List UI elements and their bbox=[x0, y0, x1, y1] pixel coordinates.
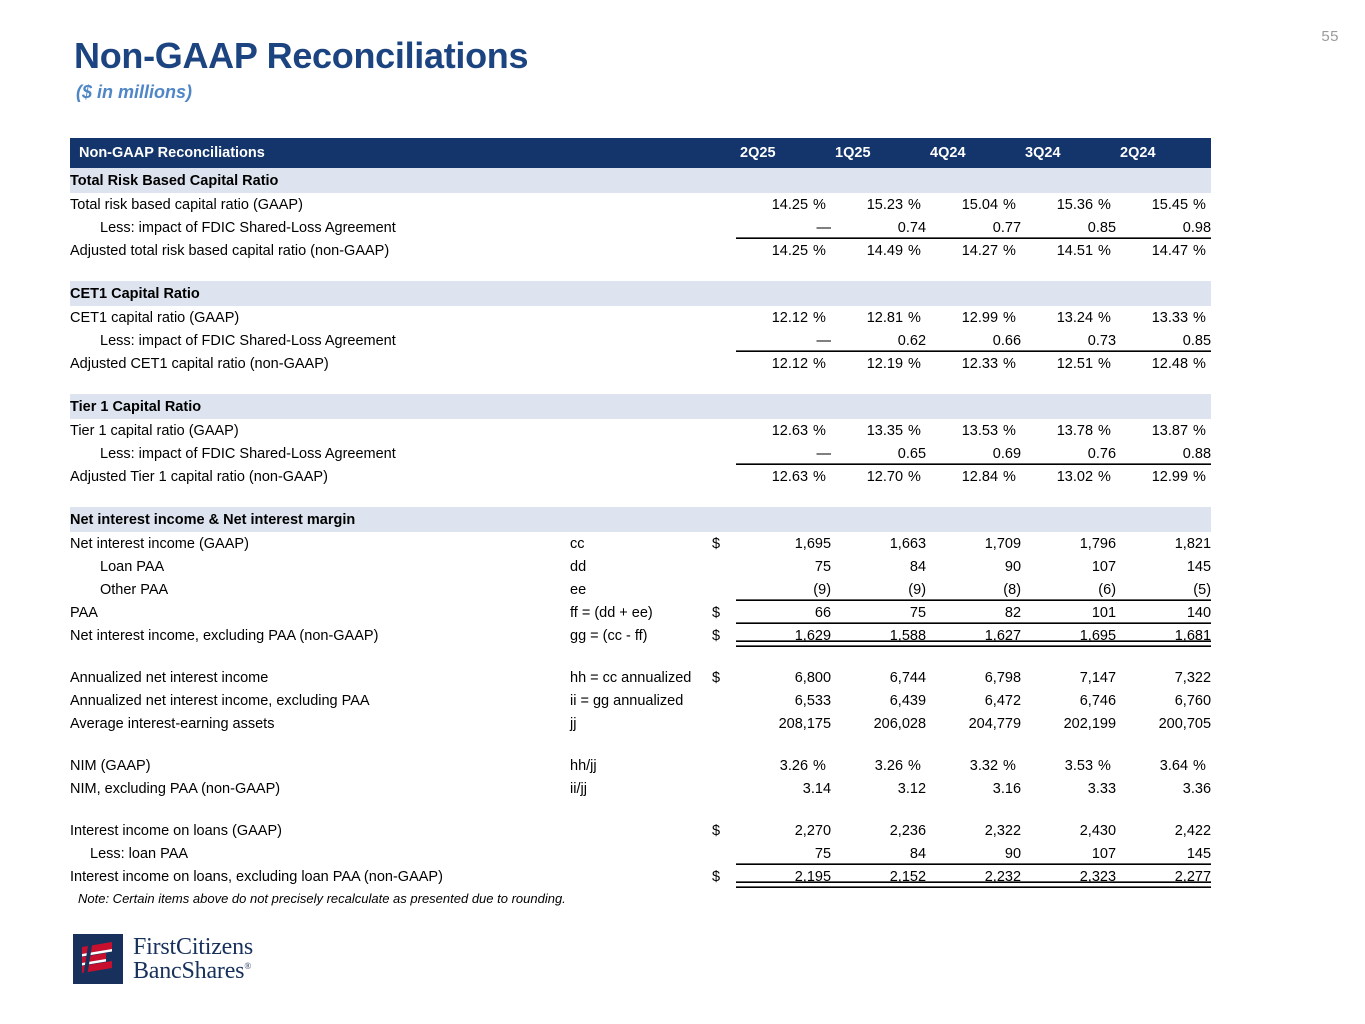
table-row: Less: loan PAA758490107145 bbox=[70, 842, 1211, 865]
cell-2q25: 1,629 bbox=[736, 624, 831, 647]
cell-1q25: 12.81% bbox=[831, 306, 926, 329]
cell-4q24: 0.77 bbox=[926, 216, 1021, 239]
cell-2q24: 3.36 bbox=[1116, 777, 1211, 800]
percent-sign: % bbox=[1188, 469, 1211, 485]
percent-sign: % bbox=[1093, 423, 1116, 439]
row-formula: ii = gg annualized bbox=[570, 689, 712, 712]
table-row: Less: impact of FDIC Shared-Loss Agreeme… bbox=[70, 216, 1211, 239]
percent-sign: % bbox=[1093, 469, 1116, 485]
percent-sign: % bbox=[903, 469, 926, 485]
percent-sign: % bbox=[1188, 310, 1211, 326]
cell-1q25: 84 bbox=[831, 842, 926, 865]
cell-3q24: 13.78% bbox=[1021, 419, 1116, 442]
currency-symbol: $ bbox=[712, 865, 736, 888]
cell-2q24: (5) bbox=[1116, 578, 1211, 601]
spacer-row bbox=[70, 488, 1211, 507]
cell-2q24: 14.47% bbox=[1116, 239, 1211, 262]
row-label: NIM, excluding PAA (non-GAAP) bbox=[70, 777, 570, 800]
cell-2q24: 0.98 bbox=[1116, 216, 1211, 239]
cell-1q25: 0.62 bbox=[831, 329, 926, 352]
currency-symbol bbox=[712, 329, 736, 352]
cell-2q25: 75 bbox=[736, 842, 831, 865]
column-header-3q24: 3Q24 bbox=[1021, 138, 1116, 168]
cell-2q25: 6,800 bbox=[736, 666, 831, 689]
cell-2q25: 12.63% bbox=[736, 419, 831, 442]
row-formula bbox=[570, 193, 712, 216]
non-gaap-table-wrapper: Non-GAAP Reconciliations2Q251Q254Q243Q24… bbox=[70, 138, 1211, 888]
cell-3q24: 13.24% bbox=[1021, 306, 1116, 329]
cell-4q24: 3.32% bbox=[926, 754, 1021, 777]
row-formula bbox=[570, 216, 712, 239]
cell-1q25: 84 bbox=[831, 555, 926, 578]
cell-4q24: 2,232 bbox=[926, 865, 1021, 888]
footnote: Note: Certain items above do not precise… bbox=[78, 891, 566, 906]
table-row: Annualized net interest incomehh = cc an… bbox=[70, 666, 1211, 689]
row-label: Less: impact of FDIC Shared-Loss Agreeme… bbox=[70, 216, 570, 239]
table-row: Interest income on loans, excluding loan… bbox=[70, 865, 1211, 888]
currency-symbol bbox=[712, 555, 736, 578]
percent-sign: % bbox=[1188, 243, 1211, 259]
row-formula: jj bbox=[570, 712, 712, 735]
row-formula bbox=[570, 419, 712, 442]
table-row: PAAff = (dd + ee)$667582101140 bbox=[70, 601, 1211, 624]
currency-symbol bbox=[712, 306, 736, 329]
logo-line-2-text: BancShares bbox=[133, 958, 244, 984]
cell-2q24: 0.85 bbox=[1116, 329, 1211, 352]
table-row: Average interest-earning assetsjj208,175… bbox=[70, 712, 1211, 735]
cell-2q24: 145 bbox=[1116, 555, 1211, 578]
percent-sign: % bbox=[903, 197, 926, 213]
percent-sign: % bbox=[998, 423, 1021, 439]
percent-sign: % bbox=[1093, 758, 1116, 774]
currency-symbol bbox=[712, 465, 736, 488]
table-row: Less: impact of FDIC Shared-Loss Agreeme… bbox=[70, 442, 1211, 465]
currency-symbol bbox=[712, 689, 736, 712]
cell-1q25: 14.49% bbox=[831, 239, 926, 262]
cell-4q24: 15.04% bbox=[926, 193, 1021, 216]
cell-2q25: 12.63% bbox=[736, 465, 831, 488]
cell-3q24: 2,430 bbox=[1021, 819, 1116, 842]
row-label: Adjusted Tier 1 capital ratio (non-GAAP) bbox=[70, 465, 570, 488]
currency-symbol bbox=[712, 239, 736, 262]
cell-1q25: 6,744 bbox=[831, 666, 926, 689]
row-formula bbox=[570, 329, 712, 352]
currency-symbol bbox=[712, 777, 736, 800]
cell-3q24: 0.76 bbox=[1021, 442, 1116, 465]
table-row: CET1 capital ratio (GAAP)12.12%12.81%12.… bbox=[70, 306, 1211, 329]
cell-2q25: 14.25% bbox=[736, 239, 831, 262]
cell-2q24: 1,821 bbox=[1116, 532, 1211, 555]
cell-2q24: 7,322 bbox=[1116, 666, 1211, 689]
cell-1q25: 13.35% bbox=[831, 419, 926, 442]
currency-symbol bbox=[712, 193, 736, 216]
cell-2q25: 3.14 bbox=[736, 777, 831, 800]
percent-sign: % bbox=[998, 197, 1021, 213]
cell-3q24: 101 bbox=[1021, 601, 1116, 624]
cell-3q24: (6) bbox=[1021, 578, 1116, 601]
cell-2q25: 2,195 bbox=[736, 865, 831, 888]
cell-3q24: 107 bbox=[1021, 555, 1116, 578]
currency-symbol bbox=[712, 352, 736, 375]
cell-1q25: 2,152 bbox=[831, 865, 926, 888]
cell-2q24: 13.33% bbox=[1116, 306, 1211, 329]
row-formula bbox=[570, 465, 712, 488]
currency-symbol bbox=[712, 712, 736, 735]
currency-symbol bbox=[712, 442, 736, 465]
cell-2q25: — bbox=[736, 329, 831, 352]
percent-sign: % bbox=[903, 758, 926, 774]
cell-1q25: 12.19% bbox=[831, 352, 926, 375]
row-label: Net interest income (GAAP) bbox=[70, 532, 570, 555]
cell-3q24: 13.02% bbox=[1021, 465, 1116, 488]
percent-sign: % bbox=[903, 423, 926, 439]
table-row: Interest income on loans (GAAP)$2,2702,2… bbox=[70, 819, 1211, 842]
section-band-row: Total Risk Based Capital Ratio bbox=[70, 168, 1211, 193]
percent-sign: % bbox=[1188, 423, 1211, 439]
cell-1q25: 6,439 bbox=[831, 689, 926, 712]
row-formula bbox=[570, 819, 712, 842]
cell-2q25: (9) bbox=[736, 578, 831, 601]
cell-2q25: 6,533 bbox=[736, 689, 831, 712]
percent-sign: % bbox=[808, 423, 831, 439]
row-label: Annualized net interest income bbox=[70, 666, 570, 689]
cell-3q24: 1,796 bbox=[1021, 532, 1116, 555]
cell-2q25: 12.12% bbox=[736, 352, 831, 375]
cell-4q24: 1,627 bbox=[926, 624, 1021, 647]
section-title: Tier 1 Capital Ratio bbox=[70, 394, 1211, 419]
non-gaap-reconciliation-table: Non-GAAP Reconciliations2Q251Q254Q243Q24… bbox=[70, 138, 1211, 888]
row-label: Loan PAA bbox=[70, 555, 570, 578]
percent-sign: % bbox=[1093, 243, 1116, 259]
table-row: Annualized net interest income, excludin… bbox=[70, 689, 1211, 712]
percent-sign: % bbox=[1093, 310, 1116, 326]
percent-sign: % bbox=[998, 758, 1021, 774]
spacer-row bbox=[70, 375, 1211, 394]
currency-symbol: $ bbox=[712, 624, 736, 647]
page-header: Non-GAAP Reconciliations ($ in millions) bbox=[74, 36, 528, 103]
cell-2q24: 12.48% bbox=[1116, 352, 1211, 375]
table-row: Net interest income, excluding PAA (non-… bbox=[70, 624, 1211, 647]
cell-1q25: 75 bbox=[831, 601, 926, 624]
section-title: CET1 Capital Ratio bbox=[70, 281, 1211, 306]
cell-2q24: 2,277 bbox=[1116, 865, 1211, 888]
spacer-cell bbox=[70, 647, 1211, 666]
table-body: Non-GAAP Reconciliations2Q251Q254Q243Q24… bbox=[70, 138, 1211, 888]
cell-4q24: 3.16 bbox=[926, 777, 1021, 800]
cell-4q24: 0.66 bbox=[926, 329, 1021, 352]
cell-4q24: 12.99% bbox=[926, 306, 1021, 329]
cell-2q25: — bbox=[736, 442, 831, 465]
table-header-row: Non-GAAP Reconciliations2Q251Q254Q243Q24… bbox=[70, 138, 1211, 168]
cell-2q25: — bbox=[736, 216, 831, 239]
cell-4q24: 14.27% bbox=[926, 239, 1021, 262]
percent-sign: % bbox=[808, 310, 831, 326]
row-formula: cc bbox=[570, 532, 712, 555]
spacer-cell bbox=[70, 262, 1211, 281]
cell-4q24: 90 bbox=[926, 842, 1021, 865]
currency-symbol bbox=[712, 754, 736, 777]
row-formula bbox=[570, 306, 712, 329]
row-label: NIM (GAAP) bbox=[70, 754, 570, 777]
cell-3q24: 14.51% bbox=[1021, 239, 1116, 262]
percent-sign: % bbox=[1188, 758, 1211, 774]
cell-2q25: 1,695 bbox=[736, 532, 831, 555]
percent-sign: % bbox=[903, 243, 926, 259]
company-logo: FirstCitizens BancShares® bbox=[72, 933, 253, 985]
currency-symbol bbox=[712, 842, 736, 865]
currency-symbol: $ bbox=[712, 601, 736, 624]
table-row: Adjusted Tier 1 capital ratio (non-GAAP)… bbox=[70, 465, 1211, 488]
row-label: Other PAA bbox=[70, 578, 570, 601]
section-band-row: Tier 1 Capital Ratio bbox=[70, 394, 1211, 419]
cell-1q25: (9) bbox=[831, 578, 926, 601]
cell-2q25: 3.26% bbox=[736, 754, 831, 777]
cell-1q25: 206,028 bbox=[831, 712, 926, 735]
row-label: Less: impact of FDIC Shared-Loss Agreeme… bbox=[70, 442, 570, 465]
logo-line-1: FirstCitizens bbox=[133, 935, 253, 959]
spacer-row bbox=[70, 800, 1211, 819]
cell-2q24: 3.64% bbox=[1116, 754, 1211, 777]
row-label: Adjusted CET1 capital ratio (non-GAAP) bbox=[70, 352, 570, 375]
row-formula: ii/jj bbox=[570, 777, 712, 800]
section-title: Total Risk Based Capital Ratio bbox=[70, 168, 1211, 193]
spacer-row bbox=[70, 735, 1211, 754]
percent-sign: % bbox=[808, 356, 831, 372]
cell-3q24: 12.51% bbox=[1021, 352, 1116, 375]
row-label: Tier 1 capital ratio (GAAP) bbox=[70, 419, 570, 442]
cell-2q25: 75 bbox=[736, 555, 831, 578]
row-formula: ee bbox=[570, 578, 712, 601]
cell-3q24: 3.53% bbox=[1021, 754, 1116, 777]
row-label: CET1 capital ratio (GAAP) bbox=[70, 306, 570, 329]
page-subtitle: ($ in millions) bbox=[76, 82, 528, 103]
cell-4q24: 12.84% bbox=[926, 465, 1021, 488]
cell-2q24: 15.45% bbox=[1116, 193, 1211, 216]
table-row: Total risk based capital ratio (GAAP)14.… bbox=[70, 193, 1211, 216]
spacer-row bbox=[70, 262, 1211, 281]
table-row: NIM, excluding PAA (non-GAAP)ii/jj3.143.… bbox=[70, 777, 1211, 800]
row-formula bbox=[570, 352, 712, 375]
cell-2q24: 200,705 bbox=[1116, 712, 1211, 735]
cell-4q24: 0.69 bbox=[926, 442, 1021, 465]
table-row: Adjusted total risk based capital ratio … bbox=[70, 239, 1211, 262]
cell-4q24: 82 bbox=[926, 601, 1021, 624]
table-row: Adjusted CET1 capital ratio (non-GAAP)12… bbox=[70, 352, 1211, 375]
cell-1q25: 0.65 bbox=[831, 442, 926, 465]
cell-3q24: 1,695 bbox=[1021, 624, 1116, 647]
cell-3q24: 2,323 bbox=[1021, 865, 1116, 888]
percent-sign: % bbox=[808, 469, 831, 485]
row-label: Adjusted total risk based capital ratio … bbox=[70, 239, 570, 262]
cell-2q25: 208,175 bbox=[736, 712, 831, 735]
cell-2q25: 2,270 bbox=[736, 819, 831, 842]
cell-3q24: 0.73 bbox=[1021, 329, 1116, 352]
section-title: Net interest income & Net interest margi… bbox=[70, 507, 1211, 532]
cell-2q25: 14.25% bbox=[736, 193, 831, 216]
spacer-cell bbox=[70, 735, 1211, 754]
page-number: 55 bbox=[1321, 28, 1339, 45]
table-row: Tier 1 capital ratio (GAAP)12.63%13.35%1… bbox=[70, 419, 1211, 442]
section-band-row: CET1 Capital Ratio bbox=[70, 281, 1211, 306]
cell-2q24: 6,760 bbox=[1116, 689, 1211, 712]
currency-symbol: $ bbox=[712, 819, 736, 842]
cell-4q24: 12.33% bbox=[926, 352, 1021, 375]
cell-1q25: 1,663 bbox=[831, 532, 926, 555]
table-row: Less: impact of FDIC Shared-Loss Agreeme… bbox=[70, 329, 1211, 352]
row-formula: hh = cc annualized bbox=[570, 666, 712, 689]
spacer-cell bbox=[70, 488, 1211, 507]
cell-1q25: 0.74 bbox=[831, 216, 926, 239]
percent-sign: % bbox=[998, 310, 1021, 326]
cell-2q24: 145 bbox=[1116, 842, 1211, 865]
cell-4q24: 1,709 bbox=[926, 532, 1021, 555]
row-label: Average interest-earning assets bbox=[70, 712, 570, 735]
cell-1q25: 15.23% bbox=[831, 193, 926, 216]
cell-4q24: 6,798 bbox=[926, 666, 1021, 689]
percent-sign: % bbox=[1093, 197, 1116, 213]
cell-3q24: 6,746 bbox=[1021, 689, 1116, 712]
cell-4q24: 6,472 bbox=[926, 689, 1021, 712]
percent-sign: % bbox=[808, 758, 831, 774]
percent-sign: % bbox=[998, 469, 1021, 485]
cell-1q25: 3.26% bbox=[831, 754, 926, 777]
cell-3q24: 202,199 bbox=[1021, 712, 1116, 735]
table-row: Other PAAee(9)(9)(8)(6)(5) bbox=[70, 578, 1211, 601]
cell-4q24: 2,322 bbox=[926, 819, 1021, 842]
spacer-cell bbox=[70, 800, 1211, 819]
row-formula: gg = (cc - ff) bbox=[570, 624, 712, 647]
percent-sign: % bbox=[1188, 356, 1211, 372]
row-formula: hh/jj bbox=[570, 754, 712, 777]
table-corner-label: Non-GAAP Reconciliations bbox=[70, 138, 736, 168]
cell-1q25: 1,588 bbox=[831, 624, 926, 647]
currency-symbol bbox=[712, 419, 736, 442]
cell-1q25: 12.70% bbox=[831, 465, 926, 488]
cell-3q24: 3.33 bbox=[1021, 777, 1116, 800]
cell-4q24: (8) bbox=[926, 578, 1021, 601]
percent-sign: % bbox=[1093, 356, 1116, 372]
cell-2q25: 66 bbox=[736, 601, 831, 624]
row-formula bbox=[570, 865, 712, 888]
cell-4q24: 204,779 bbox=[926, 712, 1021, 735]
column-header-1q25: 1Q25 bbox=[831, 138, 926, 168]
percent-sign: % bbox=[1188, 197, 1211, 213]
page-title: Non-GAAP Reconciliations bbox=[74, 36, 528, 76]
currency-symbol: $ bbox=[712, 666, 736, 689]
row-formula bbox=[570, 442, 712, 465]
percent-sign: % bbox=[998, 356, 1021, 372]
row-formula: ff = (dd + ee) bbox=[570, 601, 712, 624]
first-citizens-logo-mark-icon bbox=[72, 933, 124, 985]
row-label: Net interest income, excluding PAA (non-… bbox=[70, 624, 570, 647]
cell-4q24: 13.53% bbox=[926, 419, 1021, 442]
row-formula bbox=[570, 239, 712, 262]
cell-3q24: 107 bbox=[1021, 842, 1116, 865]
row-label: PAA bbox=[70, 601, 570, 624]
cell-2q24: 13.87% bbox=[1116, 419, 1211, 442]
cell-3q24: 0.85 bbox=[1021, 216, 1116, 239]
currency-symbol bbox=[712, 578, 736, 601]
percent-sign: % bbox=[808, 197, 831, 213]
percent-sign: % bbox=[808, 243, 831, 259]
cell-2q24: 2,422 bbox=[1116, 819, 1211, 842]
column-header-2q24: 2Q24 bbox=[1116, 138, 1211, 168]
cell-3q24: 7,147 bbox=[1021, 666, 1116, 689]
row-label: Less: loan PAA bbox=[70, 842, 570, 865]
cell-2q24: 1,681 bbox=[1116, 624, 1211, 647]
spacer-row bbox=[70, 647, 1211, 666]
column-header-4q24: 4Q24 bbox=[926, 138, 1021, 168]
row-label: Annualized net interest income, excludin… bbox=[70, 689, 570, 712]
cell-2q24: 0.88 bbox=[1116, 442, 1211, 465]
logo-text: FirstCitizens BancShares® bbox=[133, 935, 253, 983]
cell-2q24: 140 bbox=[1116, 601, 1211, 624]
column-header-2q25: 2Q25 bbox=[736, 138, 831, 168]
row-label: Total risk based capital ratio (GAAP) bbox=[70, 193, 570, 216]
percent-sign: % bbox=[903, 356, 926, 372]
cell-1q25: 2,236 bbox=[831, 819, 926, 842]
row-label: Interest income on loans (GAAP) bbox=[70, 819, 570, 842]
table-row: NIM (GAAP)hh/jj3.26%3.26%3.32%3.53%3.64% bbox=[70, 754, 1211, 777]
currency-symbol bbox=[712, 216, 736, 239]
cell-1q25: 3.12 bbox=[831, 777, 926, 800]
row-label: Less: impact of FDIC Shared-Loss Agreeme… bbox=[70, 329, 570, 352]
cell-4q24: 90 bbox=[926, 555, 1021, 578]
percent-sign: % bbox=[998, 243, 1021, 259]
percent-sign: % bbox=[903, 310, 926, 326]
row-formula: dd bbox=[570, 555, 712, 578]
section-band-row: Net interest income & Net interest margi… bbox=[70, 507, 1211, 532]
logo-line-2: BancShares® bbox=[133, 959, 253, 983]
spacer-cell bbox=[70, 375, 1211, 394]
row-label: Interest income on loans, excluding loan… bbox=[70, 865, 570, 888]
cell-2q25: 12.12% bbox=[736, 306, 831, 329]
table-row: Net interest income (GAAP)cc$1,6951,6631… bbox=[70, 532, 1211, 555]
row-formula bbox=[570, 842, 712, 865]
currency-symbol: $ bbox=[712, 532, 736, 555]
cell-2q24: 12.99% bbox=[1116, 465, 1211, 488]
cell-3q24: 15.36% bbox=[1021, 193, 1116, 216]
table-row: Loan PAAdd758490107145 bbox=[70, 555, 1211, 578]
